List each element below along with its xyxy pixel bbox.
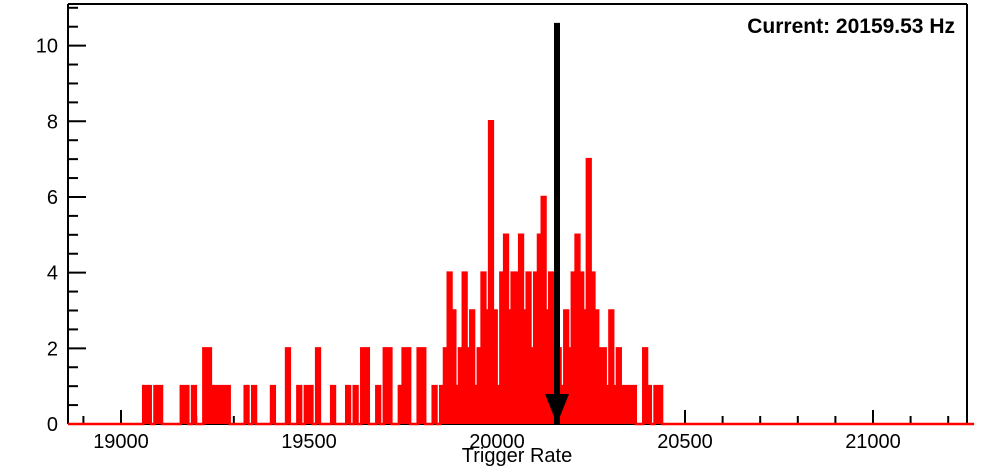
chart-canvas: 0246810 1900019500200002050021000 Trigge… bbox=[0, 0, 996, 472]
y-tick-label: 4 bbox=[47, 263, 58, 285]
y-tick-label: 2 bbox=[47, 338, 58, 360]
histogram-series bbox=[68, 121, 974, 424]
y-tick-label: 10 bbox=[36, 36, 58, 58]
y-tick-label: 0 bbox=[47, 414, 58, 436]
y-tick-label: 8 bbox=[47, 111, 58, 133]
x-tick-label: 21000 bbox=[845, 431, 901, 453]
y-axis-tick-labels: 0246810 bbox=[36, 36, 58, 436]
x-axis-title: Trigger Rate bbox=[462, 445, 572, 467]
x-tick-label: 20500 bbox=[657, 431, 713, 453]
x-tick-label: 19500 bbox=[281, 431, 337, 453]
current-rate-readout: Current: 20159.53 Hz bbox=[747, 15, 955, 38]
histogram-svg: 0246810 1900019500200002050021000 Trigge… bbox=[0, 0, 996, 472]
y-axis-ticks bbox=[68, 8, 86, 424]
y-tick-label: 6 bbox=[47, 187, 58, 209]
x-tick-label: 19000 bbox=[93, 431, 149, 453]
chart-root: 0246810 1900019500200002050021000 Trigge… bbox=[0, 0, 996, 472]
